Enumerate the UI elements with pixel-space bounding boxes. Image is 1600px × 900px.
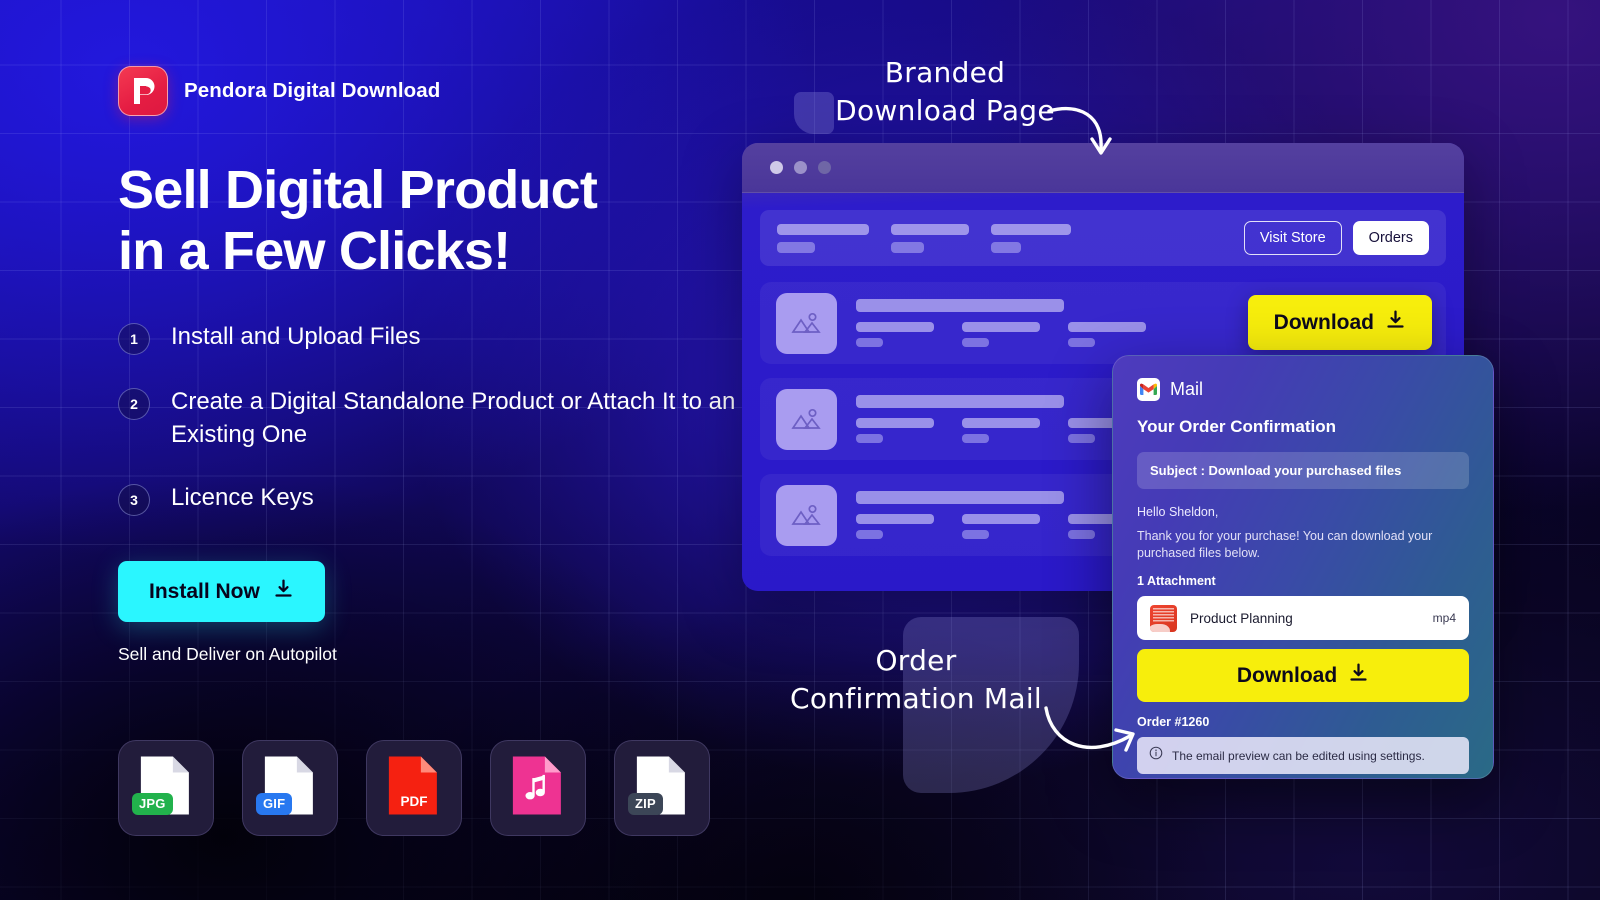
- attachment-count-label: 1 Attachment: [1137, 574, 1469, 588]
- mail-subject: Subject : Download your purchased files: [1137, 452, 1469, 489]
- skeleton-line: [991, 242, 1021, 253]
- step-number: 1: [118, 323, 150, 355]
- download-button-label: Download: [1274, 311, 1374, 335]
- attachment-name: Product Planning: [1190, 611, 1420, 626]
- nav-actions: Visit Store Orders: [1244, 221, 1429, 255]
- skeleton-line: [856, 418, 934, 428]
- file-type-badge: ZIP: [628, 793, 663, 815]
- meta-column: [856, 418, 934, 443]
- meta-column: [856, 322, 934, 347]
- store-nav-bar: Visit Store Orders: [760, 210, 1446, 266]
- attachment-thumbnail: [1150, 605, 1177, 632]
- window-close-dot-icon[interactable]: [770, 161, 783, 174]
- mail-download-label: Download: [1237, 664, 1337, 688]
- mail-greeting: Hello Sheldon,: [1137, 505, 1469, 519]
- music-document-icon: [509, 753, 565, 824]
- attachment-row[interactable]: Product Planning mp4: [1137, 596, 1469, 640]
- mail-note-text: The email preview can be edited using se…: [1172, 749, 1425, 763]
- mail-header: Mail: [1137, 378, 1469, 401]
- brand-header: Pendora Digital Download: [118, 66, 758, 116]
- skeleton-line: [962, 434, 989, 443]
- skeleton-line: [1068, 530, 1095, 539]
- orders-button[interactable]: Orders: [1353, 221, 1429, 255]
- step-label: Licence Keys: [171, 481, 314, 514]
- meta-column: [962, 322, 1040, 347]
- nav-placeholder: [991, 224, 1071, 253]
- skeleton-line: [962, 514, 1040, 524]
- info-icon: [1149, 746, 1163, 765]
- visit-store-button[interactable]: Visit Store: [1244, 221, 1342, 255]
- order-number: Order #1260: [1137, 715, 1469, 729]
- image-placeholder-icon: [776, 293, 837, 354]
- step-number: 3: [118, 484, 150, 516]
- file-type-jpg[interactable]: JPG: [118, 740, 214, 836]
- image-placeholder-icon: [776, 485, 837, 546]
- page-title: Sell Digital Product in a Few Clicks!: [118, 160, 758, 282]
- skeleton-line: [891, 224, 969, 235]
- list-item: 2 Create a Digital Standalone Product or…: [118, 385, 758, 451]
- nav-placeholder: [891, 224, 969, 253]
- annotation-arrow-top: [1045, 95, 1135, 165]
- skeleton-line: [991, 224, 1071, 235]
- skeleton-line: [962, 418, 1040, 428]
- headline-line-1: Sell Digital Product: [118, 160, 758, 221]
- download-icon: [1348, 662, 1369, 689]
- order-confirmation-mail-card: Mail Your Order Confirmation Subject : D…: [1112, 355, 1494, 779]
- mail-title: Your Order Confirmation: [1137, 417, 1469, 437]
- step-number: 2: [118, 388, 150, 420]
- skeleton-line: [856, 299, 1064, 312]
- file-type-mp3[interactable]: [490, 740, 586, 836]
- skeleton-line: [777, 242, 815, 253]
- mail-download-button[interactable]: Download: [1137, 649, 1469, 702]
- skeleton-line: [856, 530, 883, 539]
- step-label: Install and Upload Files: [171, 320, 420, 353]
- skeleton-line: [1068, 338, 1095, 347]
- install-now-button[interactable]: Install Now: [118, 561, 325, 622]
- install-now-label: Install Now: [149, 580, 260, 604]
- steps-list: 1 Install and Upload Files 2 Create a Di…: [118, 320, 758, 516]
- list-item: 3 Licence Keys: [118, 481, 758, 516]
- list-item: 1 Install and Upload Files: [118, 320, 758, 355]
- mail-note: The email preview can be edited using se…: [1137, 737, 1469, 774]
- meta-column: [962, 418, 1040, 443]
- file-type-pdf[interactable]: PDF: [366, 740, 462, 836]
- download-button[interactable]: Download: [1248, 295, 1432, 350]
- file-type-badge: JPG: [132, 793, 173, 815]
- attachment-type: mp4: [1433, 611, 1456, 625]
- pendora-logo-icon: [118, 66, 168, 116]
- skeleton-line: [962, 322, 1040, 332]
- skeleton-line: [891, 242, 924, 253]
- brand-name: Pendora Digital Download: [184, 79, 440, 103]
- file-type-badge: GIF: [256, 793, 292, 815]
- skeleton-line: [962, 338, 989, 347]
- mail-body: Thank you for your purchase! You can dow…: [1137, 528, 1469, 562]
- hero-column: Pendora Digital Download Sell Digital Pr…: [118, 66, 758, 665]
- file-type-list: JPG GIF PDF: [118, 740, 710, 836]
- skeleton-line: [856, 434, 883, 443]
- nav-placeholder: [777, 224, 869, 253]
- image-placeholder-icon: [776, 389, 837, 450]
- skeleton-line: [856, 514, 934, 524]
- skeleton-line: [856, 491, 1064, 504]
- meta-column: [1068, 322, 1146, 347]
- annotation-order-confirmation-mail: Order Confirmation Mail: [756, 642, 1076, 718]
- window-minimize-dot-icon[interactable]: [794, 161, 807, 174]
- step-label: Create a Digital Standalone Product or A…: [171, 385, 758, 451]
- meta-column: [962, 514, 1040, 539]
- file-type-gif[interactable]: GIF: [242, 740, 338, 836]
- skeleton-line: [856, 322, 934, 332]
- cta-subtext: Sell and Deliver on Autopilot: [118, 644, 758, 665]
- skeleton-line: [1068, 434, 1095, 443]
- gmail-icon: [1137, 378, 1160, 401]
- skeleton-line: [777, 224, 869, 235]
- pdf-document-icon: [385, 753, 441, 824]
- mail-app-name: Mail: [1170, 379, 1203, 400]
- download-icon: [273, 578, 294, 605]
- skeleton-line: [1068, 322, 1146, 332]
- skeleton-line: [962, 530, 989, 539]
- file-type-label: PDF: [367, 794, 461, 809]
- meta-column: [856, 514, 934, 539]
- window-maximize-dot-icon[interactable]: [818, 161, 831, 174]
- skeleton-line: [856, 338, 883, 347]
- file-type-zip[interactable]: ZIP: [614, 740, 710, 836]
- skeleton-line: [856, 395, 1064, 408]
- annotation-arrow-bottom: [1040, 700, 1150, 770]
- headline-line-2: in a Few Clicks!: [118, 221, 758, 282]
- download-icon: [1385, 309, 1406, 336]
- nav-placeholder-group: [777, 224, 1244, 253]
